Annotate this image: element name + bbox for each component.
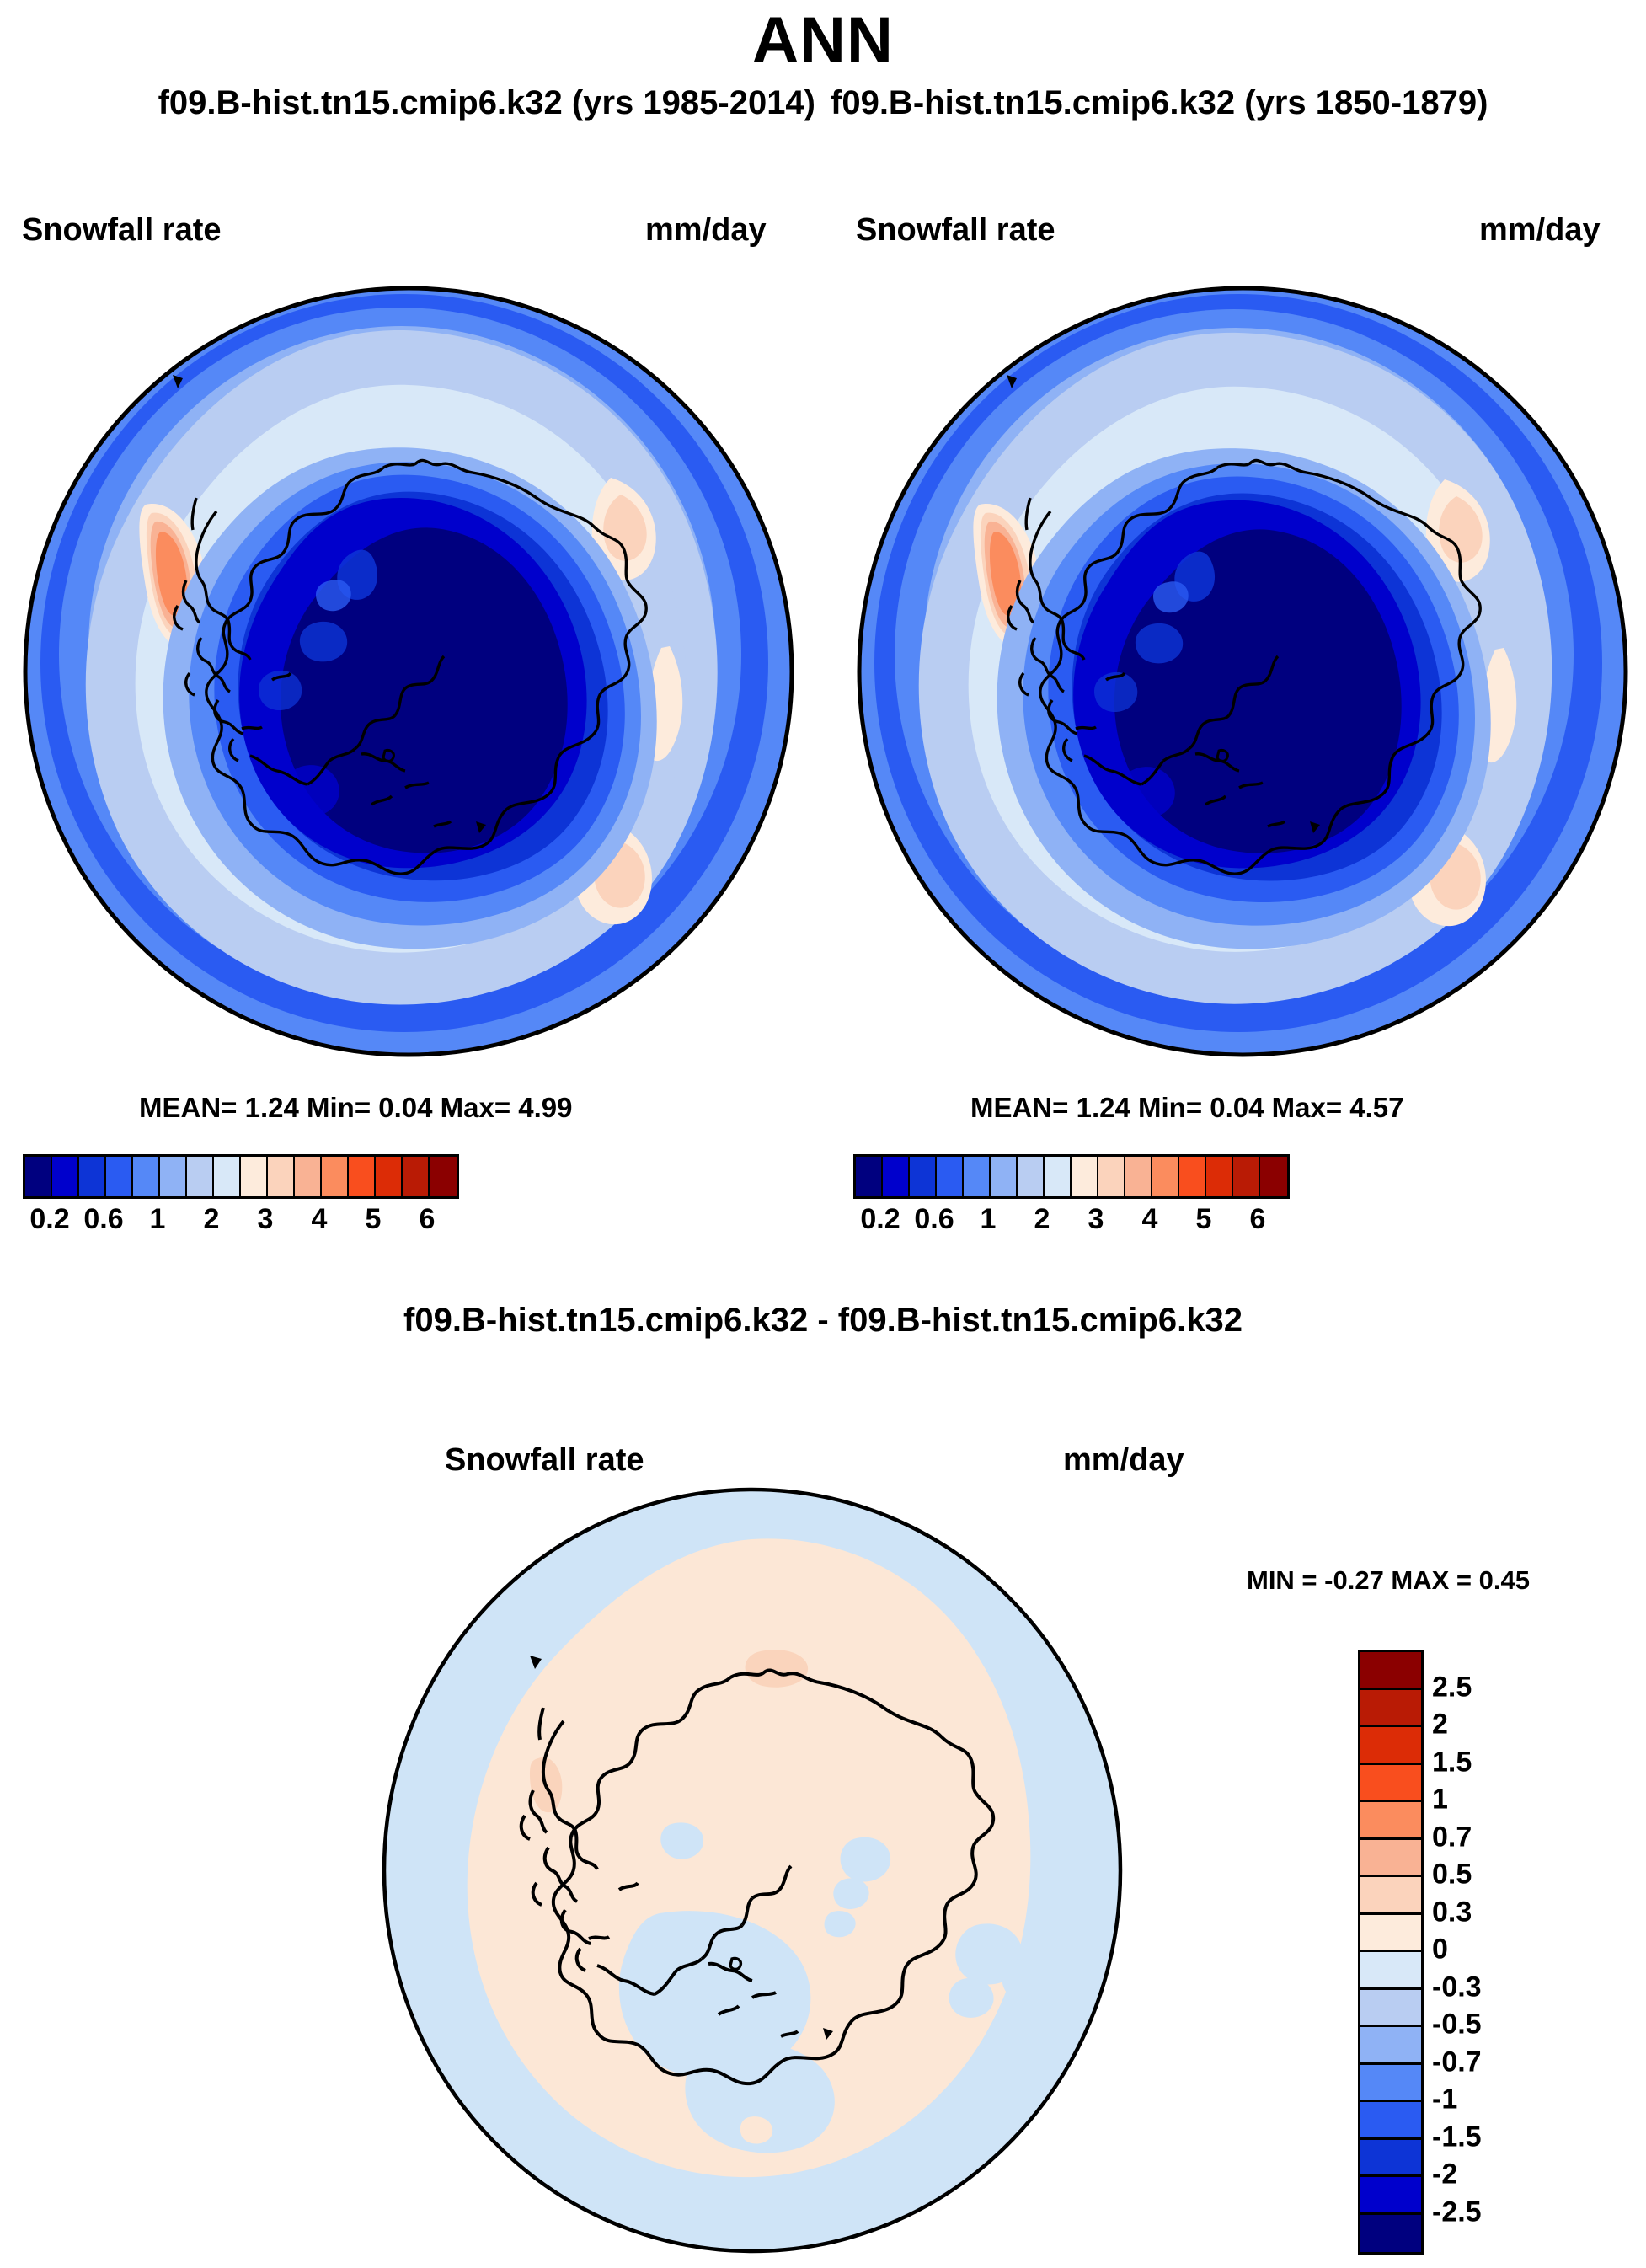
colorbar-tick-label: -1 <box>1432 2083 1457 2116</box>
right-stats-label: MEAN= 1.24 Min= 0.04 Max= 4.57 <box>970 1092 1404 1124</box>
colorbar-cell <box>883 1157 910 1196</box>
colorbar-tick-label: 5 <box>366 1203 382 1236</box>
colorbar-cell <box>1360 1840 1421 1878</box>
colorbar-cell <box>1018 1157 1045 1196</box>
colorbar-cell <box>1360 2215 1421 2253</box>
colorbar-cell <box>1360 2065 1421 2103</box>
colorbar-tick-label: 2.5 <box>1432 1671 1472 1704</box>
left-colorbar-ticks: 0.20.6123456 <box>23 1203 459 1245</box>
colorbar-tick-label: 2 <box>1432 1709 1448 1741</box>
colorbar-cell <box>1072 1157 1098 1196</box>
colorbar-tick-label: 2 <box>204 1203 220 1236</box>
colorbar-tick-label: 2 <box>1034 1203 1050 1236</box>
diff-colorbar-ticks: 2.521.510.70.50.30-0.3-0.5-0.7-1-1.5-2-2… <box>1432 1650 1601 2249</box>
colorbar-tick-label: 0.2 <box>29 1203 69 1236</box>
colorbar-cell <box>1125 1157 1152 1196</box>
right-map[interactable] <box>855 284 1630 1059</box>
colorbar-tick-label: 1.5 <box>1432 1746 1472 1779</box>
colorbar-cell <box>214 1157 241 1196</box>
left-map[interactable] <box>21 284 796 1059</box>
colorbar-cell <box>1098 1157 1125 1196</box>
colorbar-tick-label: 0 <box>1432 1934 1448 1966</box>
difference-map[interactable] <box>382 1487 1123 2254</box>
diff-map-svg <box>382 1487 1123 2254</box>
diff-title: f09.B-hist.tn15.cmip6.k32 - f09.B-hist.t… <box>0 1302 1646 1340</box>
colorbar-cell <box>964 1157 991 1196</box>
case-subtitle-row: f09.B-hist.tn15.cmip6.k32 (yrs 1985-2014… <box>0 84 1646 122</box>
colorbar-cell <box>1360 2027 1421 2065</box>
colorbar-cell <box>1360 1652 1421 1690</box>
colorbar-tick-label: 5 <box>1196 1203 1212 1236</box>
right-case-label: f09.B-hist.tn15.cmip6.k32 (yrs 1850-1879… <box>831 84 1488 122</box>
colorbar-tick-label: -0.5 <box>1432 2009 1482 2041</box>
colorbar-cell <box>133 1157 160 1196</box>
colorbar-cell <box>322 1157 349 1196</box>
diff-units-label: mm/day <box>1063 1442 1184 1479</box>
colorbar-cell <box>160 1157 187 1196</box>
colorbar-cell <box>1360 2140 1421 2178</box>
colorbar-cell <box>991 1157 1018 1196</box>
diff-variable-label: Snowfall rate <box>445 1442 644 1479</box>
colorbar-cell <box>910 1157 937 1196</box>
colorbar-cell <box>937 1157 964 1196</box>
colorbar-cell <box>1360 1877 1421 1915</box>
colorbar-tick-label: 4 <box>312 1203 328 1236</box>
colorbar-cell <box>856 1157 883 1196</box>
colorbar-tick-label: 1 <box>981 1203 997 1236</box>
left-case-label: f09.B-hist.tn15.cmip6.k32 (yrs 1985-2014… <box>158 84 815 122</box>
left-stats-label: MEAN= 1.24 Min= 0.04 Max= 4.99 <box>139 1092 573 1124</box>
colorbar-tick-label: -2 <box>1432 2158 1457 2191</box>
colorbar-cell <box>241 1157 268 1196</box>
colorbar-cell <box>1206 1157 1233 1196</box>
colorbar-tick-label: -1.5 <box>1432 2121 1482 2153</box>
colorbar-cell <box>52 1157 79 1196</box>
colorbar-cell <box>1233 1157 1260 1196</box>
colorbar-tick-label: 4 <box>1142 1203 1158 1236</box>
colorbar-cell <box>1360 1990 1421 2028</box>
colorbar-tick-label: 1 <box>150 1203 166 1236</box>
colorbar-cell <box>1360 2177 1421 2215</box>
right-colorbar-ticks: 0.20.6123456 <box>853 1203 1290 1245</box>
colorbar-tick-label: 0.5 <box>1432 1859 1472 1891</box>
colorbar-cell <box>1360 2102 1421 2140</box>
left-map-svg <box>21 284 796 1059</box>
colorbar-cell <box>295 1157 322 1196</box>
colorbar-tick-label: -0.3 <box>1432 1971 1482 2003</box>
colorbar-tick-label: 0.6 <box>83 1203 123 1236</box>
right-units-label: mm/day <box>1479 212 1601 249</box>
colorbar-cell <box>1045 1157 1072 1196</box>
colorbar-cell <box>268 1157 295 1196</box>
colorbar-cell <box>1360 1952 1421 1990</box>
colorbar-cell <box>187 1157 214 1196</box>
colorbar-cell <box>1260 1157 1287 1196</box>
colorbar-cell <box>106 1157 133 1196</box>
colorbar-cell <box>1360 1765 1421 1803</box>
colorbar-cell <box>1152 1157 1179 1196</box>
diff-minmax-label: MIN = -0.27 MAX = 0.45 <box>1247 1565 1530 1596</box>
left-units-label: mm/day <box>645 212 767 249</box>
colorbar-tick-label: 0.6 <box>914 1203 954 1236</box>
colorbar-tick-label: -0.7 <box>1432 2046 1482 2078</box>
colorbar-cell <box>1360 1802 1421 1840</box>
colorbar-tick-label: 0.2 <box>860 1203 900 1236</box>
colorbar-cell <box>1360 1727 1421 1765</box>
colorbar-tick-label: 3 <box>1088 1203 1104 1236</box>
colorbar-cell <box>430 1157 457 1196</box>
colorbar-cell <box>403 1157 430 1196</box>
right-map-svg <box>855 284 1630 1059</box>
colorbar-cell <box>349 1157 376 1196</box>
colorbar-tick-label: 6 <box>420 1203 436 1236</box>
page-title: ANN <box>0 3 1646 77</box>
colorbar-cell <box>376 1157 403 1196</box>
colorbar-cell <box>25 1157 52 1196</box>
colorbar-tick-label: 1 <box>1432 1784 1448 1816</box>
right-variable-label: Snowfall rate <box>856 212 1055 249</box>
colorbar-tick-label: 0.7 <box>1432 1821 1472 1853</box>
colorbar-tick-label: 0.3 <box>1432 1896 1472 1928</box>
colorbar-cell <box>1360 1690 1421 1728</box>
colorbar-tick-label: 6 <box>1250 1203 1266 1236</box>
left-variable-label: Snowfall rate <box>22 212 222 249</box>
colorbar-cell <box>1360 1915 1421 1953</box>
colorbar-tick-label: 3 <box>258 1203 274 1236</box>
colorbar-tick-label: -2.5 <box>1432 2196 1482 2228</box>
right-colorbar[interactable] <box>853 1154 1290 1199</box>
colorbar-cell <box>79 1157 106 1196</box>
diff-colorbar[interactable] <box>1358 1650 1424 2255</box>
left-colorbar[interactable] <box>23 1154 459 1199</box>
colorbar-cell <box>1179 1157 1206 1196</box>
